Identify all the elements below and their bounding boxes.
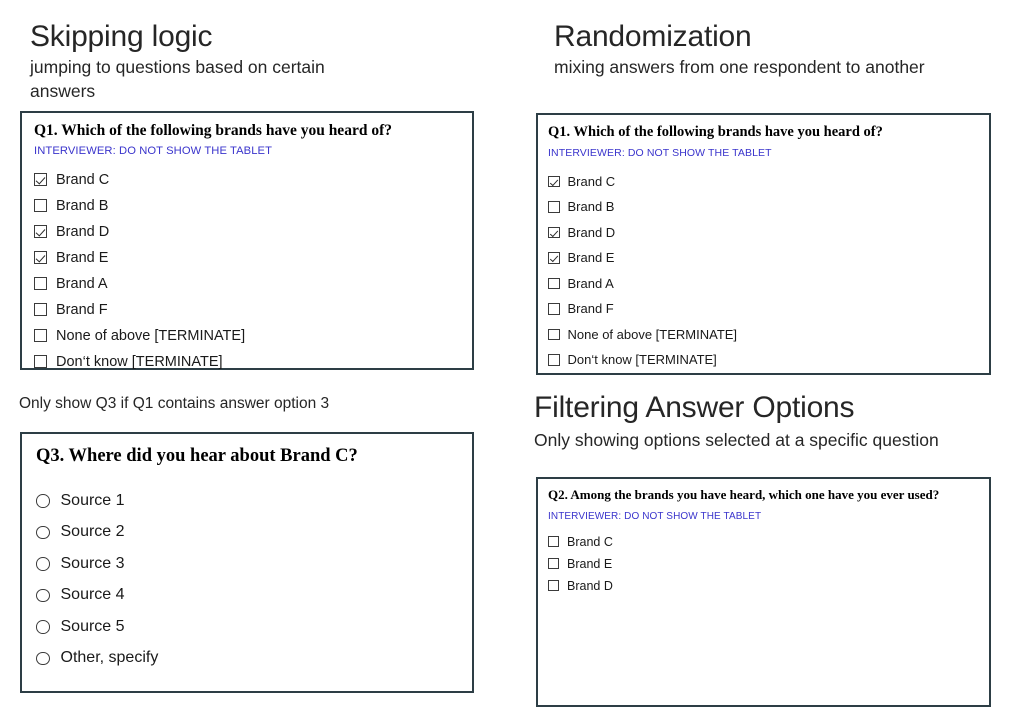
checkbox-checked-icon[interactable] [548, 252, 560, 264]
answer-option-label: Brand D [56, 224, 109, 240]
checkbox-unchecked-icon[interactable] [548, 558, 559, 569]
answer-option-label: Brand E [56, 250, 108, 266]
question-title: Q1. Which of the following brands have y… [34, 122, 472, 140]
answer-option[interactable]: Source 4 [36, 580, 472, 612]
answer-option-label: Brand E [567, 557, 612, 571]
radio-unchecked-icon[interactable] [36, 589, 50, 603]
answer-option[interactable]: Source 1 [36, 485, 472, 517]
answer-option[interactable]: None of above [TERMINATE] [34, 323, 472, 349]
checkbox-unchecked-icon[interactable] [34, 355, 47, 368]
answer-option[interactable]: Brand E [548, 245, 989, 271]
answer-option-label: Other, specify [61, 649, 159, 667]
radio-unchecked-icon[interactable] [36, 652, 50, 666]
answer-option-label: Don‘t know [TERMINATE] [568, 352, 717, 367]
check-mark-icon [36, 227, 46, 237]
interviewer-note: INTERVIEWER: DO NOT SHOW THE TABLET [548, 147, 989, 159]
check-mark-icon [550, 228, 559, 237]
answer-option-label: Source 3 [61, 555, 125, 573]
skip-logic-caption: Only show Q3 if Q1 contains answer optio… [19, 395, 329, 413]
answer-option[interactable]: Brand A [34, 271, 472, 297]
answer-option[interactable]: Brand C [548, 531, 989, 553]
answer-option-label: Brand C [567, 535, 613, 549]
answer-option-label: Brand B [56, 198, 108, 214]
checkbox-unchecked-icon[interactable] [34, 199, 47, 212]
answer-option[interactable]: Brand A [548, 271, 989, 297]
answer-option-label: Brand F [56, 302, 108, 318]
check-mark-icon [36, 175, 46, 185]
interviewer-note: INTERVIEWER: DO NOT SHOW THE TABLET [34, 145, 472, 157]
checkbox-checked-icon[interactable] [34, 225, 47, 238]
answer-option[interactable]: Brand E [34, 245, 472, 271]
answer-option[interactable]: None of above [TERMINATE] [548, 322, 989, 348]
checkbox-unchecked-icon[interactable] [548, 580, 559, 591]
skipping-logic-subtitle: jumping to questions based on certain an… [30, 56, 360, 103]
answer-option-list: Source 1Source 2Source 3Source 4Source 5… [36, 485, 472, 674]
checkbox-checked-icon[interactable] [34, 173, 47, 186]
answer-option-label: Brand D [567, 579, 613, 593]
checkbox-unchecked-icon[interactable] [548, 303, 560, 315]
randomization-title: Randomization [554, 20, 752, 54]
radio-unchecked-icon[interactable] [36, 620, 50, 634]
radio-unchecked-icon[interactable] [36, 494, 50, 508]
answer-option-list: Brand CBrand BBrand DBrand EBrand ABrand… [34, 167, 472, 375]
check-mark-icon [550, 254, 559, 263]
radio-unchecked-icon[interactable] [36, 526, 50, 540]
answer-option[interactable]: Don‘t know [TERMINATE] [548, 347, 989, 373]
question-title: Q2. Among the brands you have heard, whi… [548, 488, 977, 503]
answer-option-label: Source 4 [61, 586, 125, 604]
answer-option[interactable]: Other, specify [36, 643, 472, 675]
answer-option[interactable]: Brand F [34, 297, 472, 323]
radio-unchecked-icon[interactable] [36, 557, 50, 571]
answer-option-label: Brand A [56, 276, 108, 292]
answer-option[interactable]: Brand B [34, 193, 472, 219]
answer-option-label: Brand C [568, 174, 616, 189]
answer-option[interactable]: Brand D [548, 220, 989, 246]
answer-option-label: Source 2 [61, 523, 125, 541]
answer-option-label: None of above [TERMINATE] [568, 327, 738, 342]
check-mark-icon [36, 253, 46, 263]
filtering-answer-options-subtitle: Only showing options selected at a speci… [534, 429, 1004, 453]
answer-option[interactable]: Brand C [548, 169, 989, 195]
question-card-q1-randomization: Q1. Which of the following brands have y… [536, 113, 991, 375]
answer-option[interactable]: Brand B [548, 194, 989, 220]
question-title: Q1. Which of the following brands have y… [548, 124, 989, 141]
answer-option[interactable]: Brand D [548, 575, 989, 597]
checkbox-unchecked-icon[interactable] [548, 536, 559, 547]
answer-option-label: Brand B [568, 199, 615, 214]
answer-option-list: Brand CBrand EBrand D [548, 531, 989, 597]
answer-option-label: Brand D [568, 225, 616, 240]
checkbox-unchecked-icon[interactable] [548, 278, 560, 290]
checkbox-checked-icon[interactable] [548, 227, 560, 239]
checkbox-unchecked-icon[interactable] [548, 329, 560, 341]
answer-option-label: None of above [TERMINATE] [56, 328, 245, 344]
checkbox-unchecked-icon[interactable] [34, 277, 47, 290]
answer-option[interactable]: Source 5 [36, 611, 472, 643]
question-card-q3: Q3. Where did you hear about Brand C? So… [20, 432, 474, 693]
answer-option-label: Source 1 [61, 492, 125, 510]
checkbox-unchecked-icon[interactable] [34, 329, 47, 342]
check-mark-icon [550, 177, 559, 186]
question-title: Q3. Where did you hear about Brand C? [36, 446, 472, 467]
interviewer-note: INTERVIEWER: DO NOT SHOW THE TABLET [548, 511, 989, 522]
checkbox-checked-icon[interactable] [548, 176, 560, 188]
answer-option-label: Brand A [568, 276, 614, 291]
checkbox-unchecked-icon[interactable] [34, 303, 47, 316]
answer-option-label: Source 5 [61, 618, 125, 636]
answer-option[interactable]: Source 2 [36, 517, 472, 549]
answer-option[interactable]: Brand E [548, 553, 989, 575]
answer-option-label: Brand F [568, 301, 614, 316]
skipping-logic-title: Skipping logic [30, 20, 212, 54]
checkbox-unchecked-icon[interactable] [548, 201, 560, 213]
answer-option[interactable]: Brand C [34, 167, 472, 193]
answer-option[interactable]: Source 3 [36, 548, 472, 580]
checkbox-checked-icon[interactable] [34, 251, 47, 264]
answer-option[interactable]: Don‘t know [TERMINATE] [34, 349, 472, 375]
checkbox-unchecked-icon[interactable] [548, 354, 560, 366]
filtering-answer-options-title: Filtering Answer Options [534, 391, 854, 425]
answer-option-list: Brand CBrand BBrand DBrand EBrand ABrand… [548, 169, 989, 373]
answer-option-label: Don‘t know [TERMINATE] [56, 354, 223, 370]
answer-option-label: Brand C [56, 172, 109, 188]
randomization-subtitle: mixing answers from one respondent to an… [554, 56, 954, 80]
answer-option-label: Brand E [568, 250, 615, 265]
answer-option[interactable]: Brand D [34, 219, 472, 245]
question-card-q1-skipping: Q1. Which of the following brands have y… [20, 111, 474, 370]
question-card-q2: Q2. Among the brands you have heard, whi… [536, 477, 991, 707]
answer-option[interactable]: Brand F [548, 296, 989, 322]
